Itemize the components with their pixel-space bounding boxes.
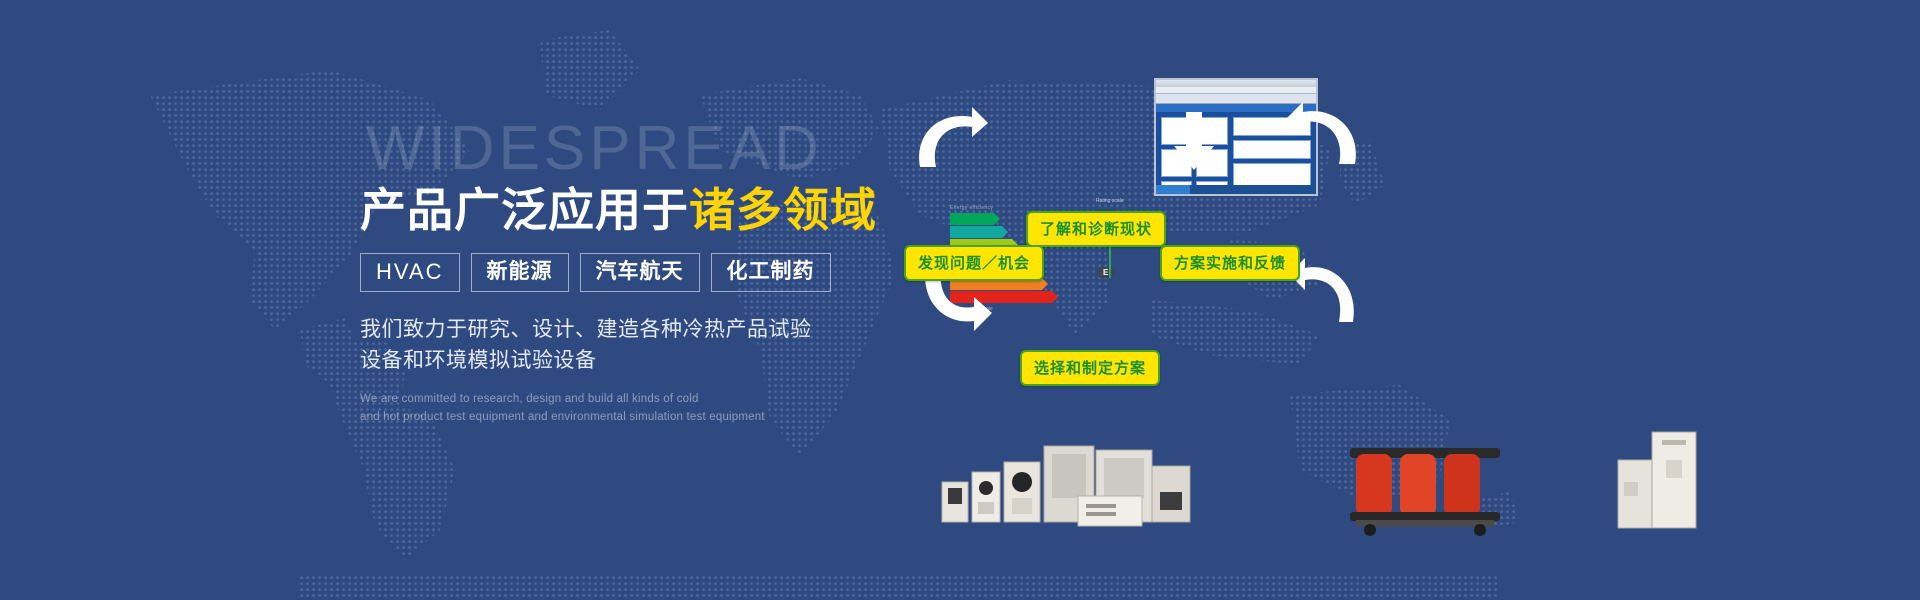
headline-white: 产品广泛应用于: [360, 184, 689, 236]
description-en-line-2: and hot product test equipment and envir…: [360, 409, 920, 427]
callout-diagnose[interactable]: 了解和诊断现状: [1026, 211, 1166, 247]
drive-controller-group: [942, 446, 1190, 526]
screenshot-statusbar: [1156, 185, 1316, 194]
arrow-upper-right-icon: [1285, 100, 1365, 172]
hero-banner: WIDESPREAD 产品广泛应用于诸多领域 HVAC 新能源 汽车航天 化工制…: [0, 0, 1920, 600]
tag-row: HVAC 新能源 汽车航天 化工制药: [360, 253, 920, 292]
description-chinese: 我们致力于研究、设计、建造各种冷热产品试验 设备和环境模拟试验设备: [360, 314, 920, 377]
rating-scale-caption: Rating scale: [1096, 198, 1142, 204]
description-cn-line-2: 设备和环境模拟试验设备: [360, 345, 920, 377]
hero-text-block: WIDESPREAD 产品广泛应用于诸多领域 HVAC 新能源 汽车航天 化工制…: [360, 118, 920, 427]
energy-bar-a: A: [950, 213, 994, 225]
tag-automotive-aerospace[interactable]: 汽车航天: [580, 253, 700, 292]
arrow-top-left-icon: [910, 105, 990, 175]
tag-new-energy[interactable]: 新能源: [471, 253, 569, 292]
product-photo-row: [900, 430, 1920, 540]
equipment-cabinet: [1618, 432, 1696, 528]
screenshot-menubar: [1156, 87, 1316, 94]
arrow-top-down-icon: [1172, 112, 1216, 172]
ghost-title: WIDESPREAD: [366, 118, 920, 180]
callout-discover[interactable]: 发现问题／机会: [904, 245, 1044, 281]
process-cycle-diagram: Energy efficiency A B C D E F G Energy r…: [900, 0, 1920, 600]
description-cn-line-1: 我们致力于研究、设计、建造各种冷热产品试验: [360, 314, 920, 346]
red-transformer: [1350, 448, 1500, 536]
page-title: 产品广泛应用于诸多领域: [360, 184, 920, 237]
headline-accent: 诸多领域: [689, 184, 877, 236]
description-english: We are committed to research, design and…: [360, 391, 920, 427]
energy-bar-b: B: [950, 226, 1002, 238]
tag-chemical-pharma[interactable]: 化工制药: [711, 253, 831, 292]
tag-hvac[interactable]: HVAC: [360, 253, 460, 292]
callout-implement[interactable]: 方案实施和反馈: [1160, 245, 1300, 281]
screenshot-titlebar: [1156, 80, 1316, 87]
rating-pill-bottom: E: [1096, 267, 1115, 278]
description-en-line-1: We are committed to research, design and…: [360, 391, 920, 409]
callout-select[interactable]: 选择和制定方案: [1020, 350, 1160, 386]
